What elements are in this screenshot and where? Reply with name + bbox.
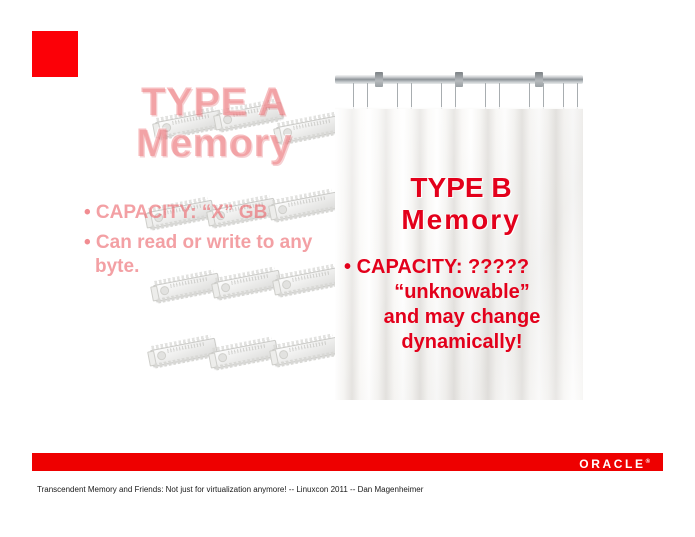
- bullet-dot-icon: •: [84, 232, 91, 253]
- type-a-bullet-item: • Can read or write to any byte.: [84, 231, 329, 279]
- oracle-logo: ORACLE®: [579, 455, 650, 471]
- type-b-bullet-line4: dynamically!: [338, 330, 586, 355]
- slide-canvas: TYPE A Memory • CAPACITY: “X” GB • Can r…: [0, 0, 695, 537]
- type-b-bullet-line2: “unknowable”: [338, 280, 586, 305]
- type-b-bullet-line1: CAPACITY: ?????: [357, 256, 530, 278]
- footer-bar: ORACLE®: [32, 453, 663, 471]
- rod-bracket: [375, 72, 383, 87]
- rod-bracket: [455, 72, 463, 87]
- type-b-heading: TYPE B Memory: [341, 172, 581, 236]
- type-b-heading-line2: Memory: [341, 204, 581, 236]
- type-a-bullet-list: • CAPACITY: “X” GB • Can read or write t…: [84, 201, 329, 285]
- registered-mark-icon: ®: [646, 459, 650, 465]
- type-a-bullet-text: Can read or write to any byte.: [91, 232, 313, 277]
- bullet-dot-icon: •: [84, 202, 91, 223]
- type-b-bullet-line3: and may change: [338, 305, 586, 330]
- bullet-dot-icon: •: [344, 256, 351, 278]
- type-b-bullet-item: • CAPACITY: ?????: [338, 255, 586, 280]
- oracle-wordmark: ORACLE: [579, 457, 645, 471]
- type-a-bullet-item: • CAPACITY: “X” GB: [84, 201, 329, 225]
- type-b-heading-line1: TYPE B: [410, 172, 511, 203]
- dip-chip-icon: [268, 334, 343, 369]
- footer-caption: Transcendent Memory and Friends: Not jus…: [37, 484, 423, 495]
- accent-square: [32, 31, 78, 77]
- type-b-bullet-list: • CAPACITY: ????? “unknowable” and may c…: [338, 255, 586, 355]
- type-a-bullet-text: CAPACITY: “X” GB: [91, 202, 268, 223]
